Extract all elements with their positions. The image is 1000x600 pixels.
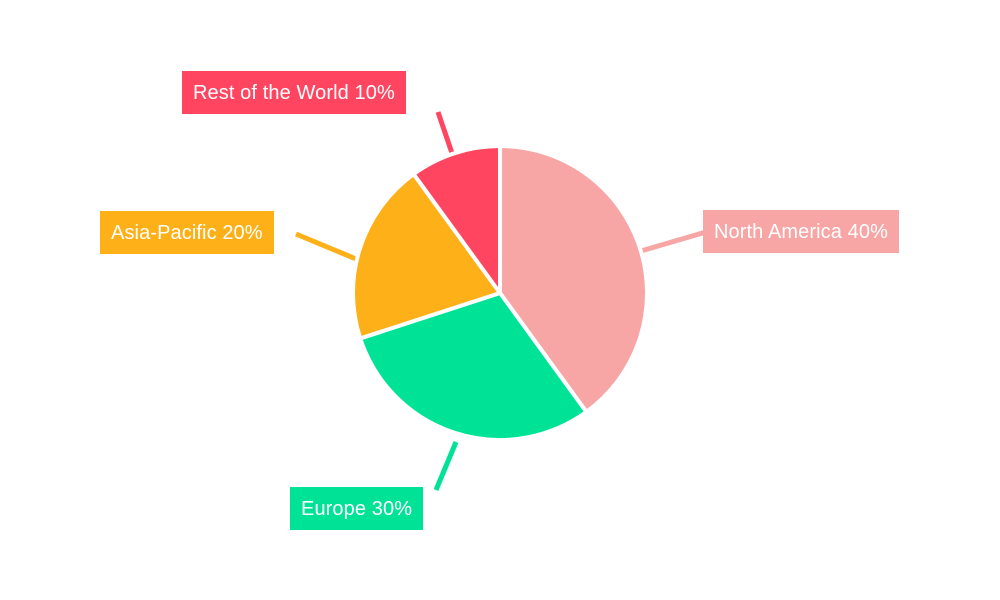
data-label-asia-pacific-text: Asia-Pacific 20%	[111, 223, 263, 243]
pie-chart-svg	[0, 0, 1000, 600]
data-label-europe-text: Europe 30%	[301, 499, 412, 519]
data-label-asia-pacific[interactable]: Asia-Pacific 20%	[100, 211, 274, 254]
leader-line-north-america	[641, 232, 706, 251]
data-label-north-america[interactable]: North America 40%	[703, 210, 899, 253]
data-label-rest-of-world-text: Rest of the World 10%	[193, 83, 395, 103]
leader-line-europe	[436, 442, 456, 490]
data-label-rest-of-world[interactable]: Rest of the World 10%	[182, 71, 406, 114]
data-label-north-america-text: North America 40%	[714, 222, 888, 242]
pie-chart-container: North America 40% Europe 30% Asia-Pacifi…	[0, 0, 1000, 600]
data-label-europe[interactable]: Europe 30%	[290, 487, 423, 530]
leader-line-asia-pacific	[296, 234, 356, 259]
pie-slices	[353, 146, 647, 440]
